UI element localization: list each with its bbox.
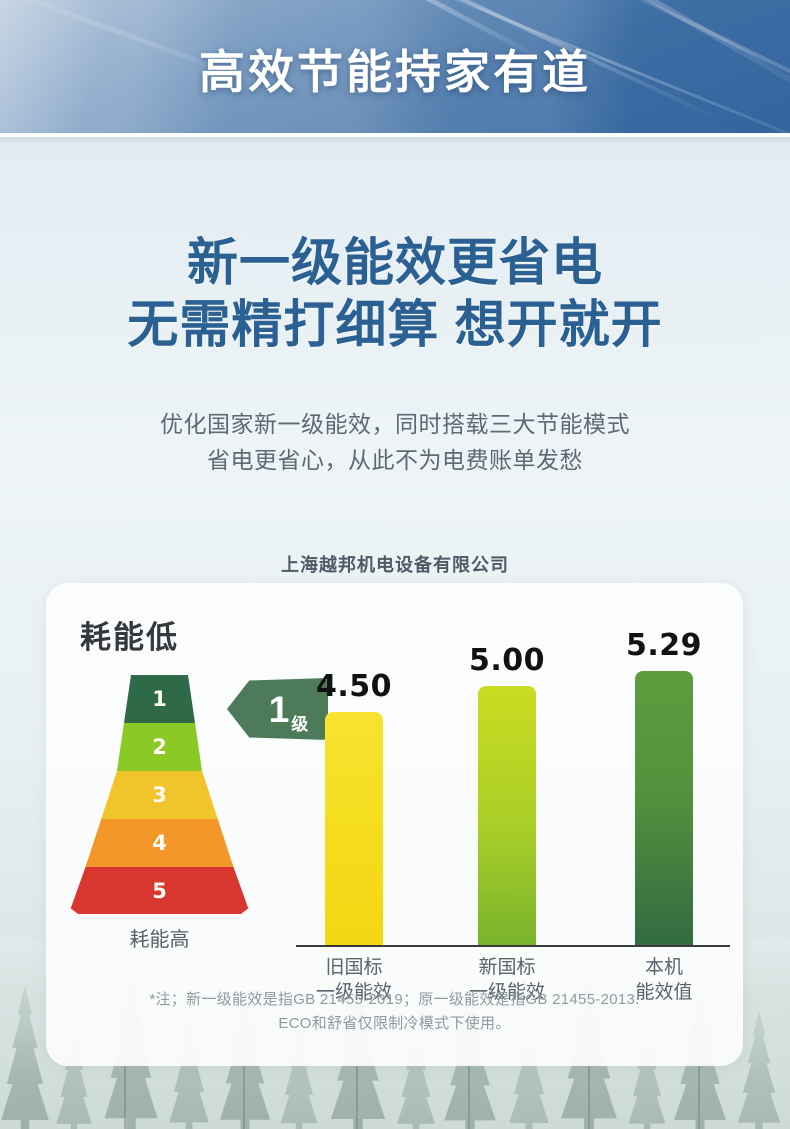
pyramid-level-2-label: 2 bbox=[152, 735, 167, 759]
bar-caption-1-line-1: 旧国标 bbox=[294, 955, 414, 980]
footnote-line-2: ECO和舒省仅限制冷模式下使用。 bbox=[46, 1012, 743, 1036]
hero-line-2: 无需精打细算 想开就开 bbox=[0, 294, 790, 356]
bar-2 bbox=[478, 686, 536, 945]
bar-value-3: 5.29 bbox=[604, 628, 724, 663]
chart-baseline-axis bbox=[296, 945, 730, 947]
pyramid-level-1-label: 1 bbox=[152, 687, 167, 711]
pyramid-level-5-label: 5 bbox=[152, 879, 167, 903]
pyramid-level-4: 4 bbox=[67, 819, 252, 867]
efficiency-bar-chart: 4.50 5.00 5.29 旧国标 一级能效 新国标 一级能效 本机 bbox=[292, 603, 732, 993]
pyramid-level-3-label: 3 bbox=[152, 783, 167, 807]
pyramid-bottom-label: 耗能高 bbox=[67, 923, 252, 952]
bar-3 bbox=[635, 671, 693, 945]
energy-pyramid: 1 2 3 4 5 bbox=[67, 675, 252, 914]
bar-caption-2-line-1: 新国标 bbox=[447, 955, 567, 980]
company-name: 上海越邦机电设备有限公司 bbox=[0, 551, 790, 577]
card-footnote: *注；新一级能效是指GB 21455-2019；原一级能效是指GB 21455-… bbox=[46, 988, 743, 1036]
grade-badge-number: 1 bbox=[269, 691, 290, 728]
subtitle-line-2: 省电更省心，从此不为电费账单发愁 bbox=[0, 442, 790, 478]
pyramid-level-4-label: 4 bbox=[152, 831, 167, 855]
hero-heading: 新一级能效更省电 无需精打细算 想开就开 bbox=[0, 232, 790, 356]
subtitle-block: 优化国家新一级能效，同时搭载三大节能模式 省电更省心，从此不为电费账单发愁 bbox=[0, 406, 790, 478]
bar-value-1: 4.50 bbox=[294, 669, 414, 704]
bar-caption-3-line-1: 本机 bbox=[604, 955, 724, 980]
hero-line-1: 新一级能效更省电 bbox=[0, 232, 790, 294]
banner-underline bbox=[0, 137, 790, 143]
pyramid-top-label: 耗能低 bbox=[80, 612, 179, 657]
subtitle-line-1: 优化国家新一级能效，同时搭载三大节能模式 bbox=[0, 406, 790, 442]
bar-1 bbox=[325, 712, 383, 945]
pyramid-level-5: 5 bbox=[67, 867, 252, 914]
banner-title: 高效节能持家有道 bbox=[0, 36, 790, 102]
energy-card: 耗能低 1 2 3 4 5 耗能高 1 级 4. bbox=[46, 583, 743, 1066]
pyramid-level-3: 3 bbox=[67, 771, 252, 819]
header-banner: 高效节能持家有道 bbox=[0, 0, 790, 133]
pyramid-level-2: 2 bbox=[67, 723, 252, 771]
bar-value-2: 5.00 bbox=[447, 643, 567, 678]
promo-page: 高效节能持家有道 新一级能效更省电 无需精打细算 想开就开 优化国家新一级能效，… bbox=[0, 0, 790, 1129]
pyramid-level-1: 1 bbox=[67, 675, 252, 723]
footnote-line-1: *注；新一级能效是指GB 21455-2019；原一级能效是指GB 21455-… bbox=[46, 988, 743, 1012]
